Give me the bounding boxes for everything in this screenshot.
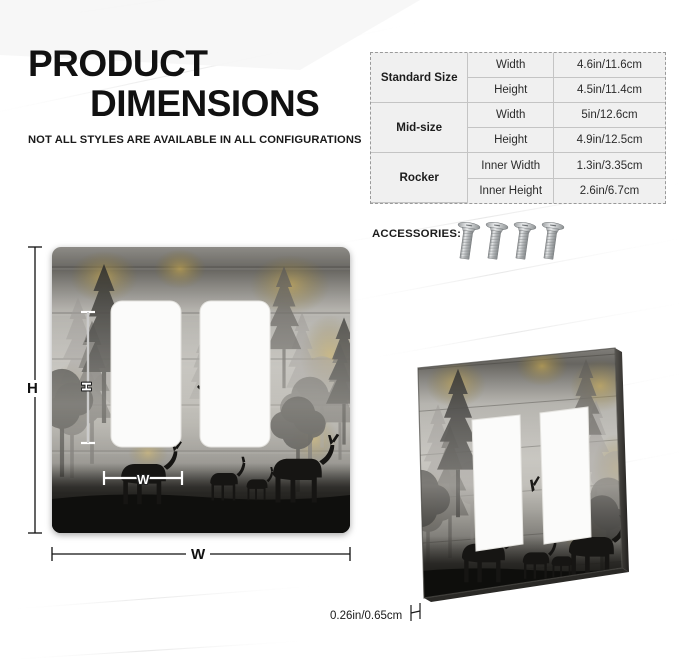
- dimension-cell: Width: [468, 53, 554, 77]
- plate-artwork-front: [52, 247, 350, 533]
- value-cell: 4.9in/12.5cm: [554, 128, 665, 153]
- page-title-line2: DIMENSIONS: [28, 84, 368, 124]
- value-cell: 2.6in/6.7cm: [554, 178, 665, 202]
- page-title-line1: PRODUCT: [28, 44, 368, 84]
- group-cell-midsize: Mid-size: [371, 103, 468, 153]
- plate-artwork-angled: [410, 340, 642, 605]
- value-cell: 4.6in/11.6cm: [554, 53, 665, 77]
- screw-icon: [538, 221, 565, 260]
- inner-height-label: H: [79, 382, 94, 391]
- infographic-canvas: PRODUCT DIMENSIONS NOT ALL STYLES ARE AV…: [0, 0, 679, 672]
- inner-width-label: W: [137, 472, 149, 487]
- dimension-cell: Height: [468, 128, 554, 153]
- screw-icon: [510, 221, 537, 260]
- screw-icon: [482, 221, 509, 260]
- product-angled-view: [410, 340, 642, 605]
- outer-height-label: H: [26, 380, 39, 397]
- group-cell-rocker: Rocker: [371, 153, 468, 203]
- screw-icon: [455, 221, 480, 260]
- group-cell-standard: Standard Size: [371, 53, 468, 103]
- page-subtitle: NOT ALL STYLES ARE AVAILABLE IN ALL CONF…: [28, 134, 368, 146]
- dimension-cell: Height: [468, 77, 554, 102]
- accessories-section: ACCESSORIES:: [372, 228, 461, 240]
- dimension-cell: Width: [468, 103, 554, 128]
- dimension-cell: Inner Width: [468, 153, 554, 178]
- thickness-label: 0.26in/0.65cm: [330, 610, 402, 622]
- screws-group: [455, 216, 570, 268]
- accessories-label: ACCESSORIES:: [372, 228, 461, 240]
- product-front-view: [52, 247, 350, 533]
- value-cell: 4.5in/11.4cm: [554, 77, 665, 102]
- specifications-table: Standard Size Width 4.6in/11.6cm Height …: [370, 52, 666, 204]
- outer-width-label: W: [186, 547, 210, 562]
- table-row: Mid-size Width 5in/12.6cm: [371, 103, 665, 128]
- heading-block: PRODUCT DIMENSIONS NOT ALL STYLES ARE AV…: [28, 44, 368, 146]
- value-cell: 5in/12.6cm: [554, 103, 665, 128]
- thickness-marker: [411, 603, 420, 621]
- table-row: Rocker Inner Width 1.3in/3.35cm: [371, 153, 665, 178]
- dimension-cell: Inner Height: [468, 178, 554, 202]
- table-row: Standard Size Width 4.6in/11.6cm: [371, 53, 665, 77]
- value-cell: 1.3in/3.35cm: [554, 153, 665, 178]
